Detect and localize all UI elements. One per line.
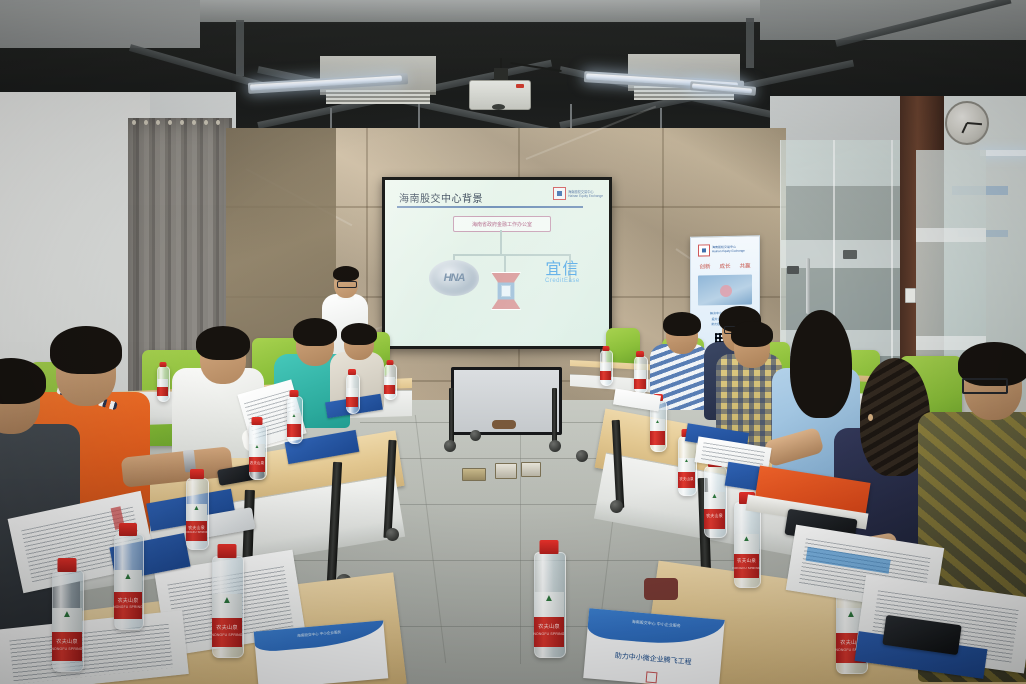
floor-outlet-box bbox=[495, 463, 517, 479]
booklet-logo-icon bbox=[646, 671, 658, 683]
attendee-hair bbox=[50, 326, 122, 374]
water-bottle[interactable]: ▲ 农夫山泉 NONGFU SPRING bbox=[52, 570, 82, 670]
handbag bbox=[644, 578, 678, 600]
presenter-glasses bbox=[337, 281, 357, 288]
poster-slogan-2: 成长 bbox=[719, 262, 730, 270]
creditease-logo: 宜信 CreditEase bbox=[545, 262, 580, 284]
water-bottle[interactable]: ▲ 农夫山泉 NONGFU SPRING bbox=[114, 534, 142, 628]
presentation-slide: 海南股交中心背景 海南股权交易中心 Hainan Equity Exchange… bbox=[385, 180, 609, 346]
water-bottle[interactable] bbox=[600, 350, 611, 384]
bottle-brand: 农夫山泉 bbox=[737, 558, 756, 564]
water-bottle[interactable] bbox=[157, 366, 168, 400]
table-caster bbox=[576, 450, 588, 462]
poster-logo-text-en: Hainan Equity Exchange bbox=[712, 250, 745, 254]
creditease-label-en: CreditEase bbox=[545, 278, 580, 284]
bottle-brand-en: NONGFU SPRING bbox=[733, 566, 761, 570]
glass-door-handle[interactable] bbox=[806, 258, 810, 314]
attendee-hair bbox=[341, 323, 377, 345]
slide-logo-text-en: Hainan Equity Exchange bbox=[568, 194, 603, 198]
booklet-title: 助力中小微企业腾飞工程 bbox=[585, 648, 721, 670]
slide-logo: 海南股权交易中心 Hainan Equity Exchange bbox=[553, 187, 603, 200]
table-caster bbox=[444, 440, 456, 452]
poster-slogan-3: 共赢 bbox=[739, 261, 750, 269]
attendee-long-hair bbox=[790, 310, 852, 418]
bottle-brand-en: NONGFU SPRING bbox=[533, 632, 564, 636]
bottle-brand: 农夫山泉 bbox=[118, 597, 139, 604]
floor-outlet-box bbox=[462, 468, 486, 481]
slide-connector bbox=[500, 230, 502, 254]
water-bottle[interactable] bbox=[634, 356, 646, 392]
clock-hour-hand bbox=[961, 123, 967, 134]
ceiling-beam bbox=[746, 18, 754, 68]
bottle-brand-en: NONGFU SPRING bbox=[184, 531, 209, 534]
ceiling-beam bbox=[236, 20, 244, 76]
water-bottle[interactable]: ▲ bbox=[287, 396, 301, 442]
bottle-brand: 农夫山泉 bbox=[216, 624, 238, 631]
poster-image bbox=[698, 274, 752, 305]
bottle-brand-en: NONGFU SPRING bbox=[113, 605, 143, 609]
slide-title-underline bbox=[397, 206, 583, 208]
poster-logo-text: 海南股权交易中心 Hainan Equity Exchange bbox=[712, 246, 745, 254]
hainan-equity-exchange-logo-icon bbox=[553, 187, 566, 200]
program-booklet: 海南股交中心 中小企业服务 bbox=[254, 620, 389, 684]
water-bottle[interactable]: ▲ 农夫山泉 NONGFU SPRING bbox=[534, 552, 564, 656]
attendee-hair bbox=[196, 326, 250, 360]
bottle-brand: 农夫山泉 bbox=[250, 460, 264, 465]
poster-slogan-1: 创新 bbox=[699, 262, 710, 270]
slide-title: 海南股交中心背景 bbox=[399, 190, 483, 205]
bottle-brand: 农夫山泉 bbox=[56, 638, 78, 645]
projector-indicator bbox=[516, 84, 524, 88]
earring bbox=[868, 414, 873, 421]
slide-logo-text: 海南股权交易中心 Hainan Equity Exchange bbox=[568, 190, 603, 198]
clock-minute-hand bbox=[967, 122, 982, 125]
water-bottle[interactable] bbox=[384, 364, 395, 398]
glass-clamp bbox=[787, 266, 799, 274]
shoe bbox=[492, 420, 516, 429]
hainan-equity-exchange-logo-icon bbox=[698, 244, 710, 256]
bottle-brand-en: NONGFU SPRING bbox=[51, 647, 82, 651]
door-frost-band bbox=[916, 228, 986, 242]
projector-lens bbox=[492, 104, 505, 110]
slide-center-box: 海南省政府金融工作办公室 bbox=[453, 216, 551, 232]
water-bottle[interactable]: ▲ 农夫山泉 NONGFU SPRING bbox=[212, 556, 242, 656]
bottle-brand: 农夫山泉 bbox=[679, 476, 693, 481]
wall-clock bbox=[945, 101, 989, 145]
slide-connector bbox=[504, 254, 506, 274]
attendee-glasses bbox=[962, 378, 1008, 394]
table-caster bbox=[549, 440, 561, 452]
table-caster bbox=[386, 528, 399, 541]
water-bottle[interactable]: ▲ 农夫山泉 bbox=[678, 436, 695, 494]
bottle-brand: 农夫山泉 bbox=[538, 623, 560, 630]
ac-vent-left bbox=[326, 90, 430, 104]
conference-room-photo: 海南股交中心背景 海南股权交易中心 Hainan Equity Exchange… bbox=[0, 0, 1026, 684]
light-switch[interactable] bbox=[905, 288, 916, 303]
presenter-hair bbox=[333, 266, 359, 281]
slide-connector bbox=[453, 254, 571, 256]
water-bottle[interactable] bbox=[346, 374, 358, 412]
bottle-brand: 农夫山泉 bbox=[706, 513, 723, 519]
projection-screen: 海南股交中心背景 海南股权交易中心 Hainan Equity Exchange… bbox=[382, 177, 612, 349]
diamond-logo-center bbox=[501, 285, 511, 297]
hna-group-logo: HNA bbox=[429, 260, 479, 296]
hna-logo-label: HNA bbox=[444, 272, 465, 284]
bottle-brand-en: NONGFU SPRING bbox=[211, 633, 242, 637]
attendee-hair bbox=[293, 318, 337, 346]
creditease-label-cn: 宜信 bbox=[545, 262, 580, 278]
table-caster bbox=[610, 500, 623, 513]
water-bottle[interactable]: ▲ 农夫山泉 bbox=[249, 424, 265, 478]
water-bottle[interactable]: ▲ 农夫山泉 bbox=[704, 466, 725, 536]
ceiling-slab-left bbox=[0, 0, 200, 48]
program-booklet: 海南股交中心 中小企业服务 助力中小微企业腾飞工程 bbox=[583, 608, 725, 684]
glass-clamp bbox=[843, 250, 857, 259]
table-caster bbox=[470, 430, 481, 441]
water-bottle[interactable]: ▲ 农夫山泉 NONGFU SPRING bbox=[734, 502, 759, 586]
attendee-hair bbox=[731, 321, 773, 347]
water-bottle[interactable]: ▲ 农夫山泉 NONGFU SPRING bbox=[186, 478, 207, 548]
poster-logo: 海南股权交易中心 Hainan Equity Exchange bbox=[698, 243, 759, 256]
slide-center-box-label: 海南省政府金融工作办公室 bbox=[472, 221, 532, 228]
adjacent-room-light bbox=[980, 150, 1026, 156]
table-leg bbox=[552, 388, 557, 444]
floor-outlet-box bbox=[521, 462, 541, 477]
attendee-hair bbox=[663, 312, 701, 336]
poster-slogan: 创新 成长 共赢 bbox=[695, 261, 755, 270]
table-leg bbox=[449, 388, 454, 444]
